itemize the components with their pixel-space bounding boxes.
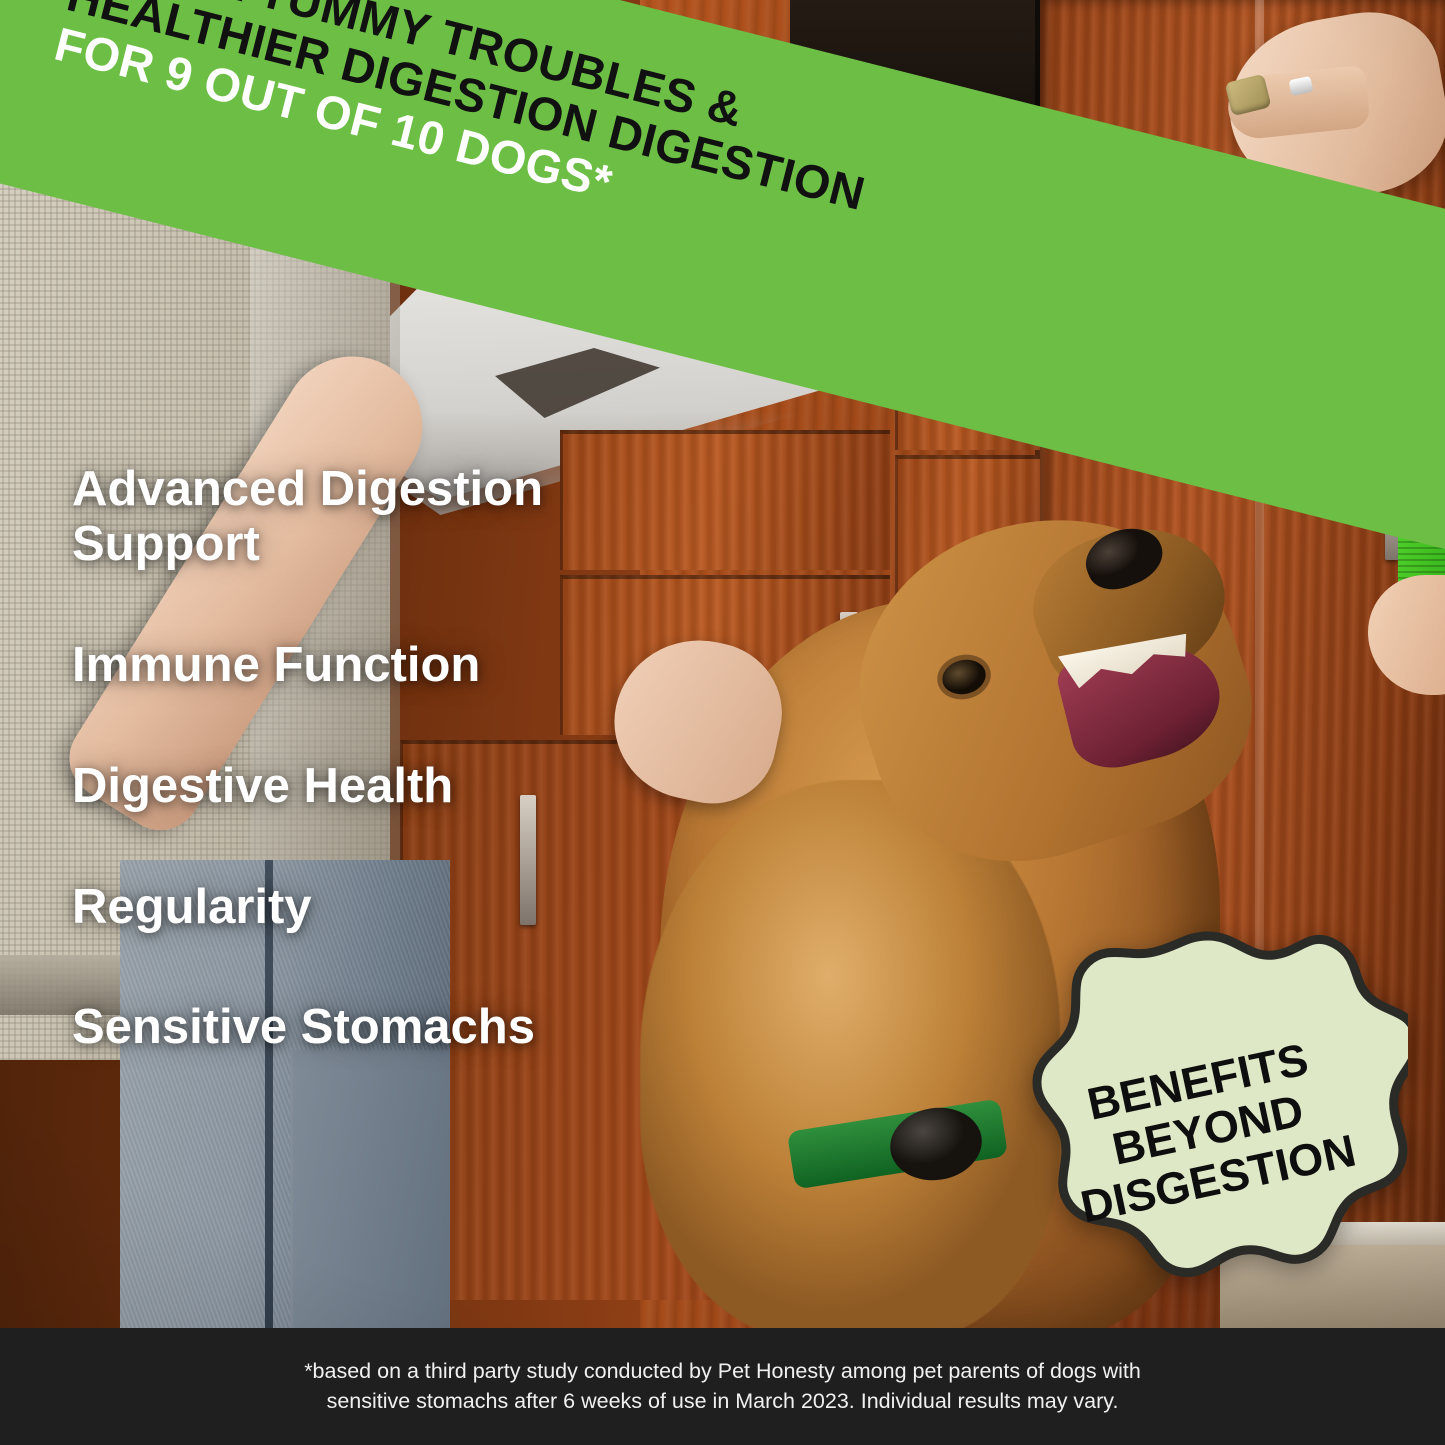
disclaimer-text: *based on a third party study conducted … [304, 1357, 1141, 1415]
benefit-item-regularity: Regularity [72, 880, 792, 935]
footer-bar: *based on a third party study conducted … [0, 1328, 1445, 1445]
benefit-item-sensitive-stomachs: Sensitive Stomachs [72, 1000, 792, 1055]
benefit-item-immune-function: Immune Function [72, 638, 792, 693]
benefits-beyond-digestion-badge: BENEFITS BEYOND DISGESTION [1008, 928, 1408, 1332]
jeans-pocket [290, 1050, 450, 1328]
product-ad-image: FEWER TUMMY TROUBLES & HEALTHIER DIGESTI… [0, 0, 1445, 1445]
benefit-list: Advanced Digestion Support Immune Functi… [72, 462, 792, 1055]
benefit-item-advanced-digestion-support: Advanced Digestion Support [72, 462, 792, 572]
benefit-item-digestive-health: Digestive Health [72, 759, 792, 814]
badge-text-block: BENEFITS BEYOND DISGESTION [970, 891, 1445, 1369]
banner-text-block: FEWER TUMMY TROUBLES & HEALTHIER DIGESTI… [50, 0, 882, 267]
